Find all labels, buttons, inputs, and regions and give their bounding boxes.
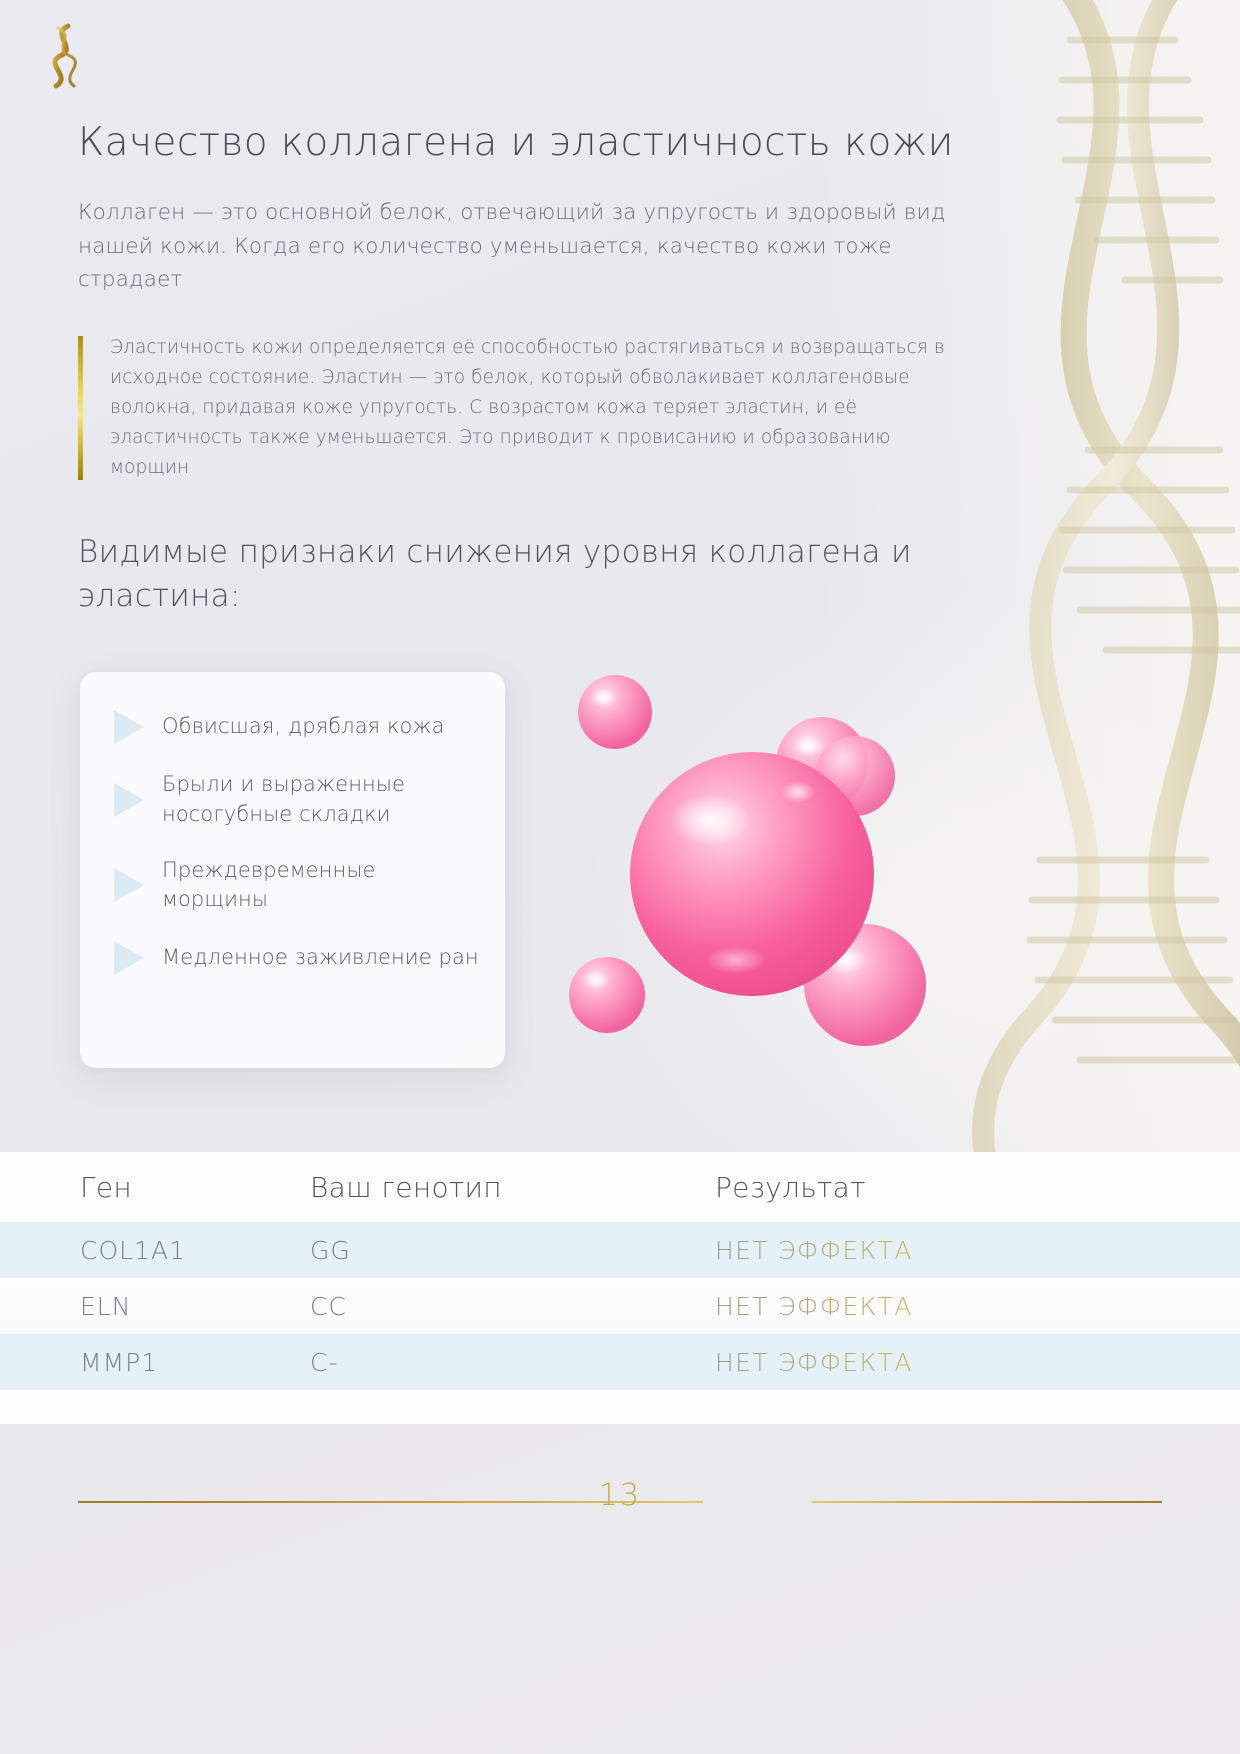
- triangle-bullet-icon: [114, 710, 144, 744]
- cell-gene: ELN: [0, 1292, 310, 1321]
- page-title: Качество коллагена и эластичность кожи: [78, 120, 1008, 165]
- signs-card: Обвисшая, дряблая кожа Брыли и выраженны…: [80, 672, 505, 1068]
- table-header-row: Ген Ваш генотип Результат: [0, 1152, 1240, 1222]
- list-item-label: Преждевременные морщины: [162, 856, 479, 916]
- cell-genotype: C-: [310, 1348, 715, 1377]
- dna-helix-icon: [38, 22, 90, 92]
- column-header-result: Результат: [715, 1171, 1240, 1204]
- triangle-bullet-icon: [114, 941, 144, 975]
- genotype-table: Ген Ваш генотип Результат COL1A1 GG НЕТ …: [0, 1152, 1240, 1424]
- table-bottom-padding: [0, 1390, 1240, 1424]
- table-row: COL1A1 GG НЕТ ЭФФЕКТА: [0, 1222, 1240, 1278]
- list-item-label: Брыли и выраженные носогубные складки: [162, 770, 479, 830]
- triangle-bullet-icon: [114, 783, 144, 817]
- section-heading-signs: Видимые признаки снижения уровня коллаге…: [78, 530, 938, 618]
- list-item-label: Обвисшая, дряблая кожа: [162, 712, 445, 742]
- page-footer: 13: [0, 1478, 1240, 1754]
- quote-block: Эластичность кожи определяется её способ…: [78, 333, 968, 483]
- intro-paragraph: Коллаген — это основной белок, отвечающи…: [78, 196, 978, 297]
- column-header-gene: Ген: [0, 1171, 310, 1204]
- list-item: Брыли и выраженные носогубные складки: [100, 770, 479, 830]
- cell-result: НЕТ ЭФФЕКТА: [715, 1236, 1240, 1265]
- quote-accent-bar: [78, 336, 83, 480]
- list-item-label: Медленное заживление ран: [162, 943, 479, 973]
- table-row: MMP1 C- НЕТ ЭФФЕКТА: [0, 1334, 1240, 1390]
- cell-genotype: CC: [310, 1292, 715, 1321]
- cell-genotype: GG: [310, 1236, 715, 1265]
- column-header-genotype: Ваш генотип: [310, 1171, 715, 1204]
- quote-text: Эластичность кожи определяется её способ…: [110, 337, 945, 478]
- cell-gene: MMP1: [0, 1348, 310, 1377]
- cell-gene: COL1A1: [0, 1236, 310, 1265]
- cell-result: НЕТ ЭФФЕКТА: [715, 1348, 1240, 1377]
- page: Качество коллагена и эластичность кожи К…: [0, 0, 1240, 1754]
- table-row: ELN CC НЕТ ЭФФЕКТА: [0, 1278, 1240, 1334]
- list-item: Преждевременные морщины: [100, 856, 479, 916]
- list-item: Обвисшая, дряблая кожа: [100, 710, 479, 744]
- triangle-bullet-icon: [114, 868, 144, 902]
- cell-result: НЕТ ЭФФЕКТА: [715, 1292, 1240, 1321]
- list-item: Медленное заживление ран: [100, 941, 479, 975]
- page-number: 13: [0, 1478, 1240, 1513]
